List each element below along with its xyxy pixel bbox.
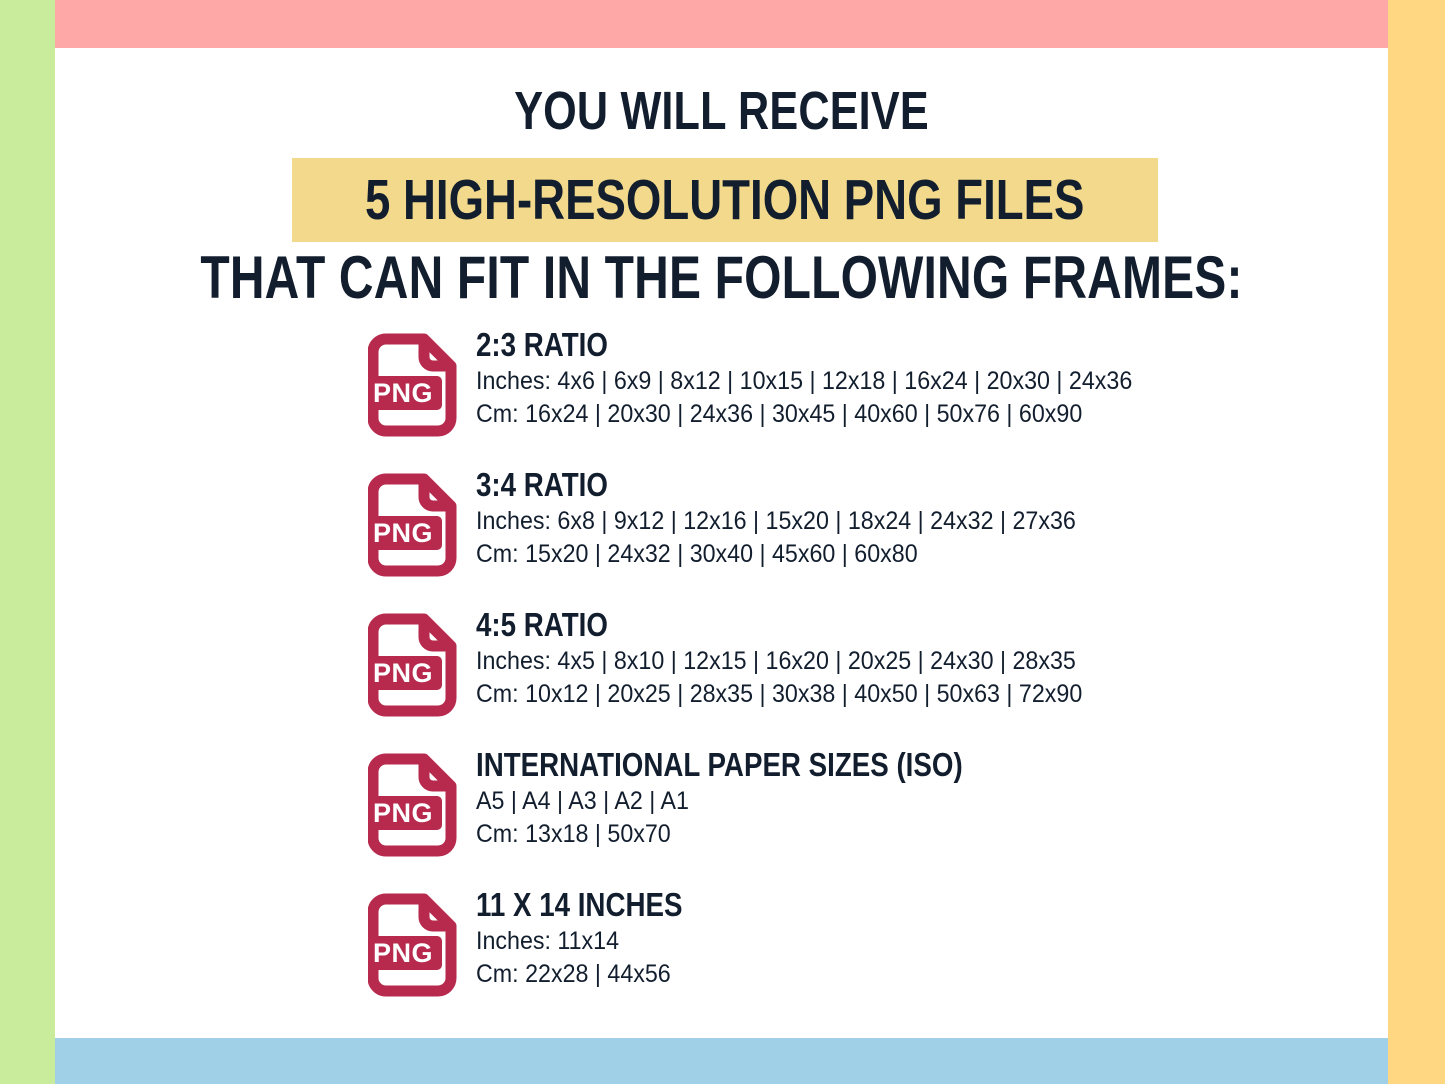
svg-text:PNG: PNG [373,658,433,688]
headline-line-1: YOU WILL RECEIVE [188,84,1254,138]
format-inches: Inches: 6x8 | 9x12 | 12x16 | 15x20 | 18x… [476,505,1076,538]
headline-line-2: 5 HIGH-RESOLUTION PNG FILES [365,172,1085,229]
svg-text:PNG: PNG [373,798,433,828]
format-row: PNG 11 X 14 INCHES Inches: 11x14 Cm: 22x… [368,888,1368,1028]
format-text: 2:3 RATIO Inches: 4x6 | 6x9 | 8x12 | 10x… [476,328,1182,431]
png-file-icon: PNG [368,750,468,860]
svg-text:PNG: PNG [373,938,433,968]
format-row: PNG 2:3 RATIO Inches: 4x6 | 6x9 | 8x12 |… [368,328,1368,468]
border-band-top-pink [55,0,1388,48]
format-cm: Cm: 16x24 | 20x30 | 24x36 | 30x45 | 40x6… [476,398,1132,431]
svg-text:PNG: PNG [373,378,433,408]
format-row: PNG 3:4 RATIO Inches: 6x8 | 9x12 | 12x16… [368,468,1368,608]
format-row: PNG 4:5 RATIO Inches: 4x5 | 8x10 | 12x15… [368,608,1368,748]
border-band-left-green [0,0,55,1084]
format-cm: Cm: 13x18 | 50x70 [476,818,1015,851]
png-file-icon: PNG [368,330,468,440]
format-cm: Cm: 10x12 | 20x25 | 28x35 | 30x38 | 40x5… [476,678,1082,711]
format-inches: Inches: 4x5 | 8x10 | 12x15 | 16x20 | 20x… [476,645,1082,678]
format-title: INTERNATIONAL PAPER SIZES (ISO) [476,748,963,783]
headline-line-3: THAT CAN FIT IN THE FOLLOWING FRAMES: [188,248,1254,308]
format-cm: Cm: 22x28 | 44x56 [476,958,705,991]
png-file-icon: PNG [368,470,468,580]
format-row: PNG INTERNATIONAL PAPER SIZES (ISO) A5 |… [368,748,1368,888]
format-text: 11 X 14 INCHES Inches: 11x14 Cm: 22x28 |… [476,888,722,991]
border-band-right-yellow [1388,0,1445,1084]
format-title: 4:5 RATIO [476,608,1024,643]
border-band-bottom-blue [55,1038,1388,1084]
format-inches: Inches: 11x14 [476,925,705,958]
format-inches: A5 | A4 | A3 | A2 | A1 [476,785,1015,818]
format-text: 3:4 RATIO Inches: 6x8 | 9x12 | 12x16 | 1… [476,468,1121,571]
headline-highlight-box: 5 HIGH-RESOLUTION PNG FILES [292,158,1158,242]
format-title: 3:4 RATIO [476,468,1018,503]
format-text: 4:5 RATIO Inches: 4x5 | 8x10 | 12x15 | 1… [476,608,1128,711]
png-file-icon: PNG [368,610,468,720]
format-title: 11 X 14 INCHES [476,888,682,923]
format-title: 2:3 RATIO [476,328,1069,363]
format-list: PNG 2:3 RATIO Inches: 4x6 | 6x9 | 8x12 |… [368,328,1368,1028]
png-file-icon: PNG [368,890,468,1000]
format-inches: Inches: 4x6 | 6x9 | 8x12 | 10x15 | 12x18… [476,365,1132,398]
format-cm: Cm: 15x20 | 24x32 | 30x40 | 45x60 | 60x8… [476,538,1076,571]
format-text: INTERNATIONAL PAPER SIZES (ISO) A5 | A4 … [476,748,1055,851]
content-canvas: YOU WILL RECEIVE 5 HIGH-RESOLUTION PNG F… [55,48,1388,1038]
svg-text:PNG: PNG [373,518,433,548]
